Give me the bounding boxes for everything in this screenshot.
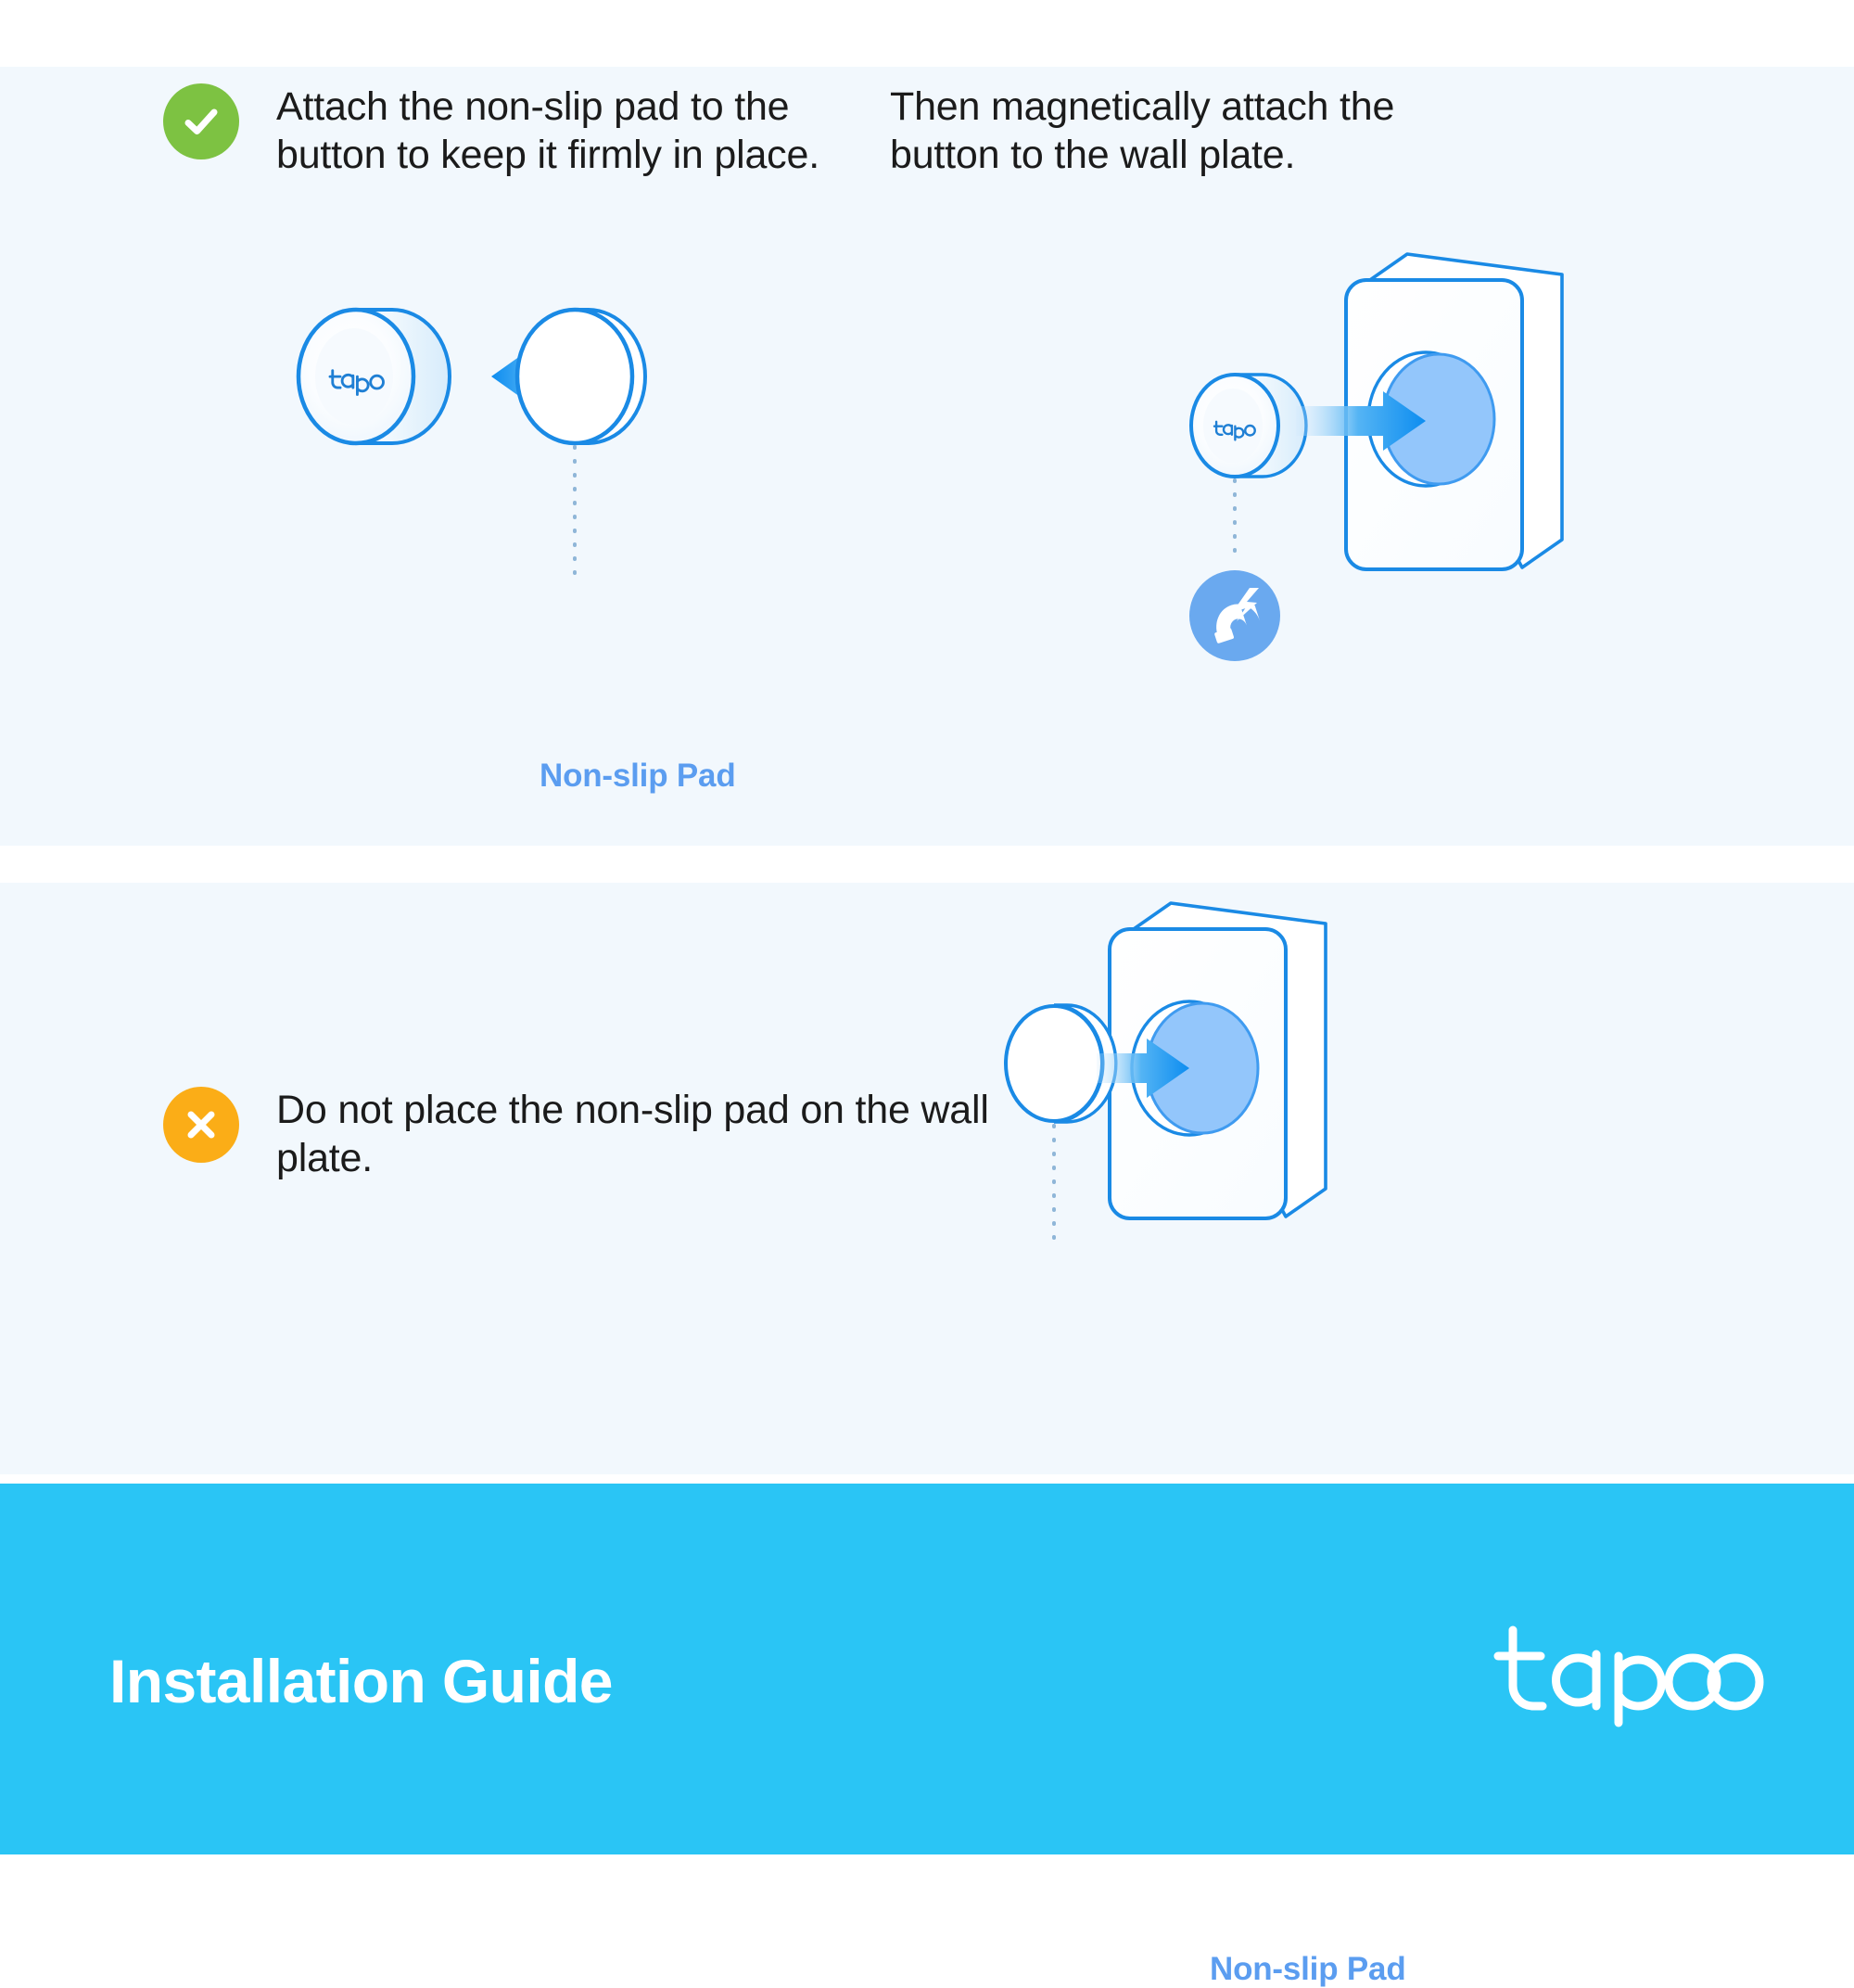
- page-title: Installation Guide: [109, 1646, 613, 1716]
- panel-step-two: Do not place the non-slip pad on the wal…: [0, 883, 1854, 1474]
- tapo-button-device: [1191, 375, 1306, 477]
- illustration-button-and-pad: [297, 280, 630, 447]
- tapo-logo: [1496, 1615, 1765, 1727]
- panel-step-one: Attach the non-slip pad to the button to…: [0, 67, 1854, 846]
- installation-guide-page: Attach the non-slip pad to the button to…: [0, 0, 1854, 1854]
- non-slip-pad-disc: [517, 310, 645, 443]
- cross-icon: [163, 1087, 239, 1163]
- step-text-attach-pad: Attach the non-slip pad to the button to…: [276, 83, 851, 179]
- illustration-button-to-wallplate: [1187, 234, 1622, 669]
- step-header-attach-pad: Attach the non-slip pad to the button to…: [163, 83, 851, 179]
- step-text-do-not-place: Do not place the non-slip pad on the wal…: [276, 1087, 1018, 1182]
- callout-non-slip-pad-2: Non-slip Pad: [1210, 1951, 1406, 1988]
- callout-non-slip-pad-1: Non-slip Pad: [540, 758, 736, 795]
- step-header-do-not-place: Do not place the non-slip pad on the wal…: [163, 1087, 1018, 1182]
- check-icon: [163, 83, 239, 159]
- magnet-icon: [1189, 570, 1280, 661]
- illustration-pad-on-wallplate-wrong: [950, 716, 1386, 1291]
- tapo-button-device: [298, 310, 450, 443]
- step-text-magnet-attach: Then magnetically attach the button to t…: [890, 83, 1446, 179]
